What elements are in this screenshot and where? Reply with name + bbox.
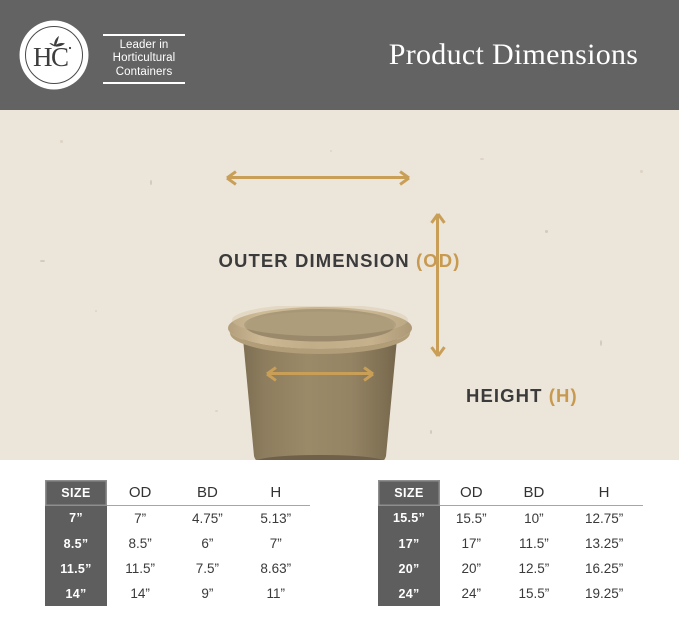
tagline-line-2: Horticultural: [103, 52, 185, 66]
outer-dimension-arrow: [228, 176, 408, 179]
cell-bd: 11.5”: [503, 531, 566, 556]
cell-size: 24”: [378, 581, 440, 606]
cell-size: 7”: [45, 506, 107, 532]
table-row: 24” 24” 15.5” 19.25”: [378, 581, 643, 606]
cell-h: 11”: [242, 581, 310, 606]
cell-h: 19.25”: [565, 581, 643, 606]
texture-speck: [215, 410, 218, 412]
table-header-left: SIZE OD BD H: [45, 480, 310, 506]
brand-tagline: Leader in Horticultural Containers: [103, 34, 185, 84]
svg-text:H: H: [33, 42, 53, 72]
cell-size: 20”: [378, 556, 440, 581]
table-row: 20” 20” 12.5” 16.25”: [378, 556, 643, 581]
tagline-rule-bottom: [103, 82, 185, 84]
cell-bd: 4.75”: [173, 506, 241, 532]
cell-bd: 6”: [173, 531, 241, 556]
cell-h: 12.75”: [565, 506, 643, 532]
table-row: 17” 17” 11.5” 13.25”: [378, 531, 643, 556]
column-header-bd: BD: [173, 480, 241, 506]
texture-speck: [60, 140, 63, 143]
tagline-text: Leader in Horticultural Containers: [103, 36, 185, 83]
cell-h: 8.63”: [242, 556, 310, 581]
base-dimension-arrow: [268, 372, 372, 375]
texture-speck: [95, 310, 97, 312]
diagram-panel: OUTER DIMENSION (OD): [0, 110, 679, 460]
product-dimensions-infographic: H C Leader in Horticultural Containers P…: [0, 0, 679, 636]
cell-od: 7”: [107, 506, 173, 532]
column-header-od: OD: [440, 480, 503, 506]
tagline-line-1: Leader in: [103, 39, 185, 53]
cell-size: 15.5”: [378, 506, 440, 532]
texture-speck: [150, 180, 152, 185]
height-arrow: [436, 215, 439, 355]
cell-h: 5.13”: [242, 506, 310, 532]
cell-size: 14”: [45, 581, 107, 606]
table-row: 8.5” 8.5” 6” 7”: [45, 531, 310, 556]
texture-speck: [480, 158, 484, 160]
column-header-bd: BD: [503, 480, 566, 506]
dimension-table-right: SIZE OD BD H 15.5” 15.5” 10” 12.75” 17” …: [378, 480, 643, 606]
cell-od: 24”: [440, 581, 503, 606]
table-header-right: SIZE OD BD H: [378, 480, 643, 506]
cell-size: 17”: [378, 531, 440, 556]
column-header-h: H: [565, 480, 643, 506]
planter-pot-illustration: [222, 306, 418, 460]
height-label: HEIGHT (H): [466, 385, 578, 407]
height-tag: (H): [549, 385, 578, 406]
cell-od: 14”: [107, 581, 173, 606]
table-header-row: SIZE OD BD H: [45, 480, 310, 506]
table-row: 7” 7” 4.75” 5.13”: [45, 506, 310, 532]
cell-h: 16.25”: [565, 556, 643, 581]
cell-od: 20”: [440, 556, 503, 581]
table-row: 15.5” 15.5” 10” 12.75”: [378, 506, 643, 532]
cell-od: 8.5”: [107, 531, 173, 556]
tagline-line-3: Containers: [103, 66, 185, 80]
outer-dimension-label: OUTER DIMENSION (OD): [0, 250, 679, 272]
column-header-size: SIZE: [45, 480, 107, 506]
texture-speck: [545, 230, 548, 233]
dimension-tables: SIZE OD BD H 7” 7” 4.75” 5.13” 8.5” 8.5”…: [0, 472, 679, 636]
table-header-row: SIZE OD BD H: [378, 480, 643, 506]
height-label-text: HEIGHT: [466, 385, 543, 406]
cell-od: 11.5”: [107, 556, 173, 581]
cell-size: 11.5”: [45, 556, 107, 581]
brand-logo: H C: [21, 22, 89, 90]
column-header-h: H: [242, 480, 310, 506]
texture-speck: [330, 150, 332, 152]
cell-od: 15.5”: [440, 506, 503, 532]
table-body-right: 15.5” 15.5” 10” 12.75” 17” 17” 11.5” 13.…: [378, 506, 643, 607]
cell-bd: 12.5”: [503, 556, 566, 581]
cell-bd: 7.5”: [173, 556, 241, 581]
header-bar: H C Leader in Horticultural Containers P…: [0, 0, 679, 110]
texture-speck: [640, 170, 643, 173]
table-body-left: 7” 7” 4.75” 5.13” 8.5” 8.5” 6” 7” 11.5” …: [45, 506, 310, 607]
cell-h: 13.25”: [565, 531, 643, 556]
texture-speck: [600, 340, 602, 346]
cell-bd: 10”: [503, 506, 566, 532]
cell-h: 7”: [242, 531, 310, 556]
cell-bd: 9”: [173, 581, 241, 606]
cell-od: 17”: [440, 531, 503, 556]
page-title: Product Dimensions: [348, 0, 679, 110]
cell-size: 8.5”: [45, 531, 107, 556]
texture-speck: [430, 430, 432, 434]
column-header-size: SIZE: [378, 480, 440, 506]
outer-dimension-label-text: OUTER DIMENSION: [219, 250, 410, 271]
column-header-od: OD: [107, 480, 173, 506]
table-row: 11.5” 11.5” 7.5” 8.63”: [45, 556, 310, 581]
cell-bd: 15.5”: [503, 581, 566, 606]
dimension-table-left: SIZE OD BD H 7” 7” 4.75” 5.13” 8.5” 8.5”…: [45, 480, 310, 606]
hc-leaf-logo-icon: H C: [21, 22, 87, 88]
table-row: 14” 14” 9” 11”: [45, 581, 310, 606]
svg-text:C: C: [51, 42, 69, 72]
